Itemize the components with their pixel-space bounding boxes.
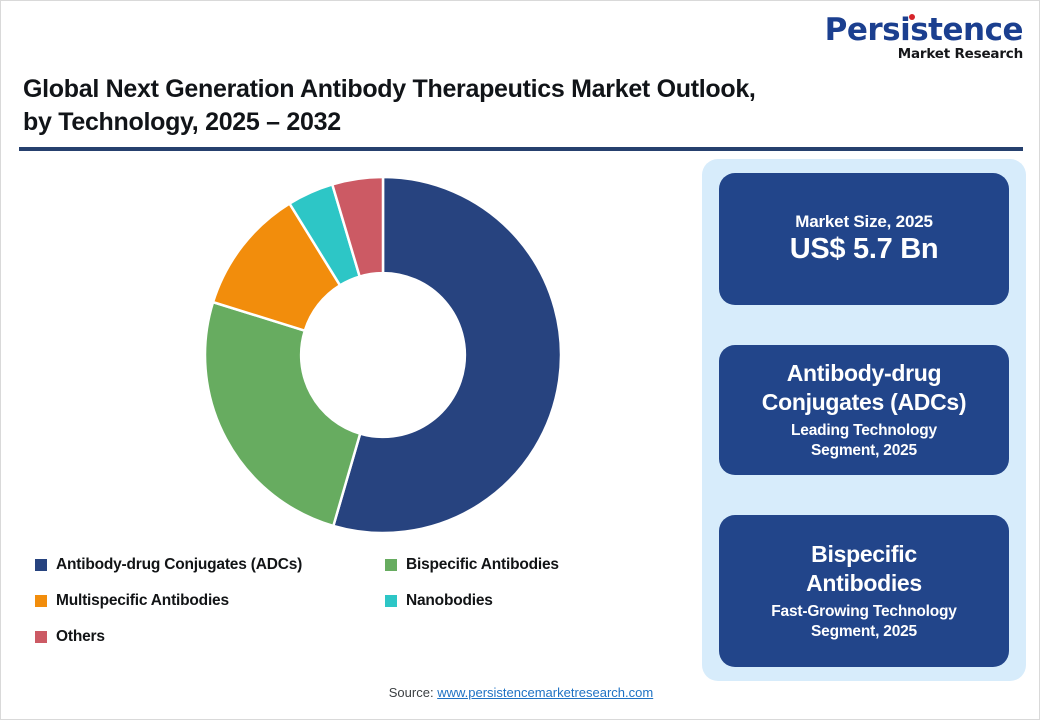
- logo-dot-icon: [909, 14, 915, 20]
- legend-swatch-icon: [35, 595, 47, 607]
- kpi-card-subtext-line-1: Leading Technology: [791, 421, 937, 441]
- logo-wordmark: Persistence: [825, 15, 1023, 46]
- kpi-card-fast-growing-segment: Bispecific Antibodies Fast-Growing Techn…: [719, 515, 1009, 667]
- logo-tagline: Market Research: [817, 48, 1023, 62]
- kpi-card-value: US$ 5.7 Bn: [790, 232, 939, 267]
- legend-swatch-icon: [35, 631, 47, 643]
- legend-item-nanobodies[interactable]: Nanobodies: [385, 592, 665, 610]
- page-title-line-1: Global Next Generation Antibody Therapeu…: [23, 73, 883, 106]
- kpi-card-headline: Antibody-drug Conjugates (ADCs): [750, 359, 978, 417]
- title-divider: [19, 147, 1023, 151]
- kpi-card-headline-line-2: Antibodies: [806, 569, 922, 598]
- donut-slice-group: [205, 177, 561, 533]
- kpi-card-headline-line-1: Antibody-drug: [762, 359, 966, 388]
- legend-item-others[interactable]: Others: [35, 628, 385, 646]
- kpi-card-leading-segment: Antibody-drug Conjugates (ADCs) Leading …: [719, 345, 1009, 475]
- legend-item-label: Nanobodies: [406, 592, 493, 610]
- kpi-card-caption: Market Size, 2025: [795, 211, 932, 232]
- donut-chart: [21, 161, 681, 541]
- legend-swatch-icon: [385, 595, 397, 607]
- page-title-line-2: by Technology, 2025 – 2032: [23, 106, 883, 139]
- kpi-card-headline-line-2: Conjugates (ADCs): [762, 388, 966, 417]
- kpi-card-subtext: Fast-Growing Technology Segment, 2025: [771, 602, 956, 642]
- kpi-card-subtext-line-1: Fast-Growing Technology: [771, 602, 956, 622]
- legend-item-bispecific-antibodies[interactable]: Bispecific Antibodies: [385, 556, 665, 574]
- legend-swatch-icon: [35, 559, 47, 571]
- donut-slice[interactable]: [205, 302, 360, 526]
- source-line: Source: www.persistencemarketresearch.co…: [1, 685, 1040, 700]
- kpi-card-subtext-line-2: Segment, 2025: [771, 622, 956, 642]
- legend-item-label: Antibody-drug Conjugates (ADCs): [56, 556, 302, 574]
- infographic-canvas: Persistence Market Research Global Next …: [0, 0, 1040, 720]
- source-label: Source:: [389, 685, 437, 700]
- company-logo: Persistence Market Research: [817, 15, 1023, 62]
- legend-item-label: Multispecific Antibodies: [56, 592, 229, 610]
- kpi-card-headline: Bispecific Antibodies: [794, 540, 934, 598]
- legend-item-multispecific-antibodies[interactable]: Multispecific Antibodies: [35, 592, 385, 610]
- kpi-card-market-size: Market Size, 2025 US$ 5.7 Bn: [719, 173, 1009, 305]
- chart-legend: Antibody-drug Conjugates (ADCs) Bispecif…: [35, 547, 665, 655]
- legend-item-label: Bispecific Antibodies: [406, 556, 559, 574]
- donut-chart-svg: [193, 169, 573, 541]
- kpi-card-subtext: Leading Technology Segment, 2025: [791, 421, 937, 461]
- legend-item-label: Others: [56, 628, 105, 646]
- kpi-card-headline-line-1: Bispecific: [806, 540, 922, 569]
- source-link[interactable]: www.persistencemarketresearch.com: [437, 685, 653, 700]
- legend-swatch-icon: [385, 559, 397, 571]
- kpi-card-subtext-line-2: Segment, 2025: [791, 441, 937, 461]
- legend-item-adcs[interactable]: Antibody-drug Conjugates (ADCs): [35, 556, 385, 574]
- highlights-panel: Market Size, 2025 US$ 5.7 Bn Antibody-dr…: [702, 159, 1026, 681]
- page-title: Global Next Generation Antibody Therapeu…: [23, 73, 883, 139]
- logo-wordmark-text: Persistence: [825, 12, 1023, 48]
